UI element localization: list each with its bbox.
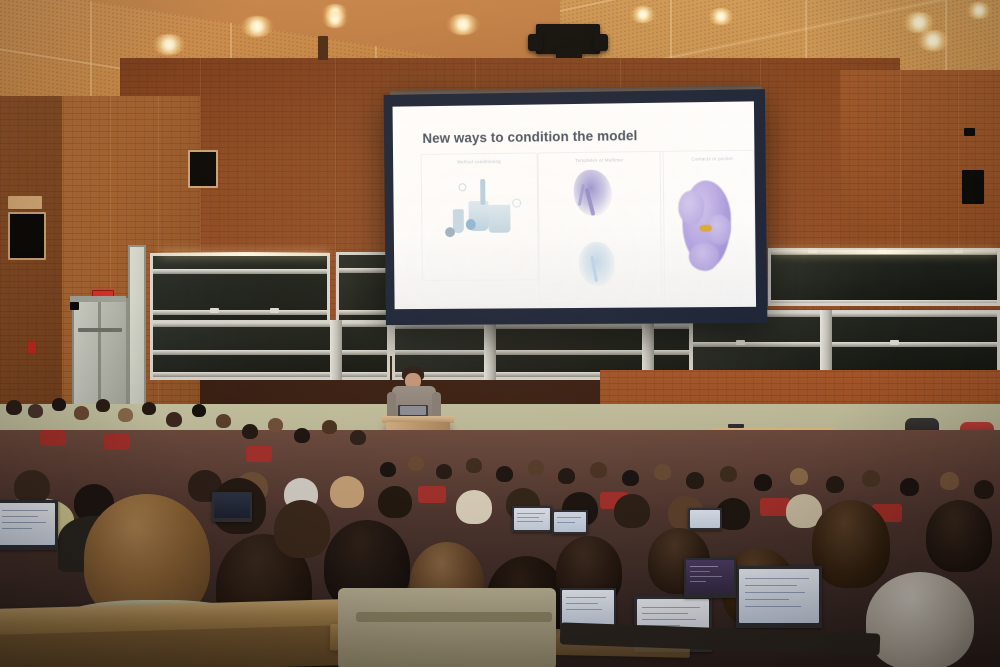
auditorium-seat <box>246 446 272 462</box>
audience-head <box>456 490 492 524</box>
audience-laptop[interactable] <box>736 566 822 628</box>
schematic-beaker <box>488 205 510 233</box>
audience-head <box>686 472 704 489</box>
audience-head-foreground <box>274 500 330 558</box>
audience-head <box>330 476 364 508</box>
ceiling-downlight <box>916 30 950 51</box>
chalkboard-left-lower <box>150 320 390 380</box>
audience-laptop[interactable] <box>688 508 722 530</box>
ceiling-downlight <box>708 8 734 25</box>
wall-speaker-box-upper <box>188 150 218 188</box>
wall-bracket-center <box>318 36 328 60</box>
audience-laptop[interactable] <box>0 500 58 550</box>
ceiling-downlight <box>240 16 274 37</box>
audience-head <box>192 404 206 417</box>
audience-laptop[interactable] <box>512 506 552 532</box>
auditorium-seat <box>104 434 130 450</box>
audience-head <box>496 466 513 482</box>
auditorium-seat <box>40 430 66 446</box>
audience-head <box>216 414 231 428</box>
projection-screen: New ways to condition the model Method c… <box>384 89 768 325</box>
audience-head-foreground <box>866 572 974 667</box>
audience-head <box>862 470 880 487</box>
laptop-screen <box>690 510 720 528</box>
chalkboard-light <box>772 250 996 254</box>
audience-head <box>974 480 994 499</box>
table-marker[interactable] <box>728 424 744 428</box>
laptop-screen <box>554 512 586 532</box>
protein-surface-lobe <box>689 243 720 271</box>
wall-speaker-box <box>8 212 46 260</box>
audience-head <box>294 428 310 443</box>
audience-head <box>322 420 337 434</box>
audience-head <box>242 424 258 439</box>
wall-bracket-right <box>964 128 975 136</box>
ceiling-speaker-side-left <box>528 34 542 51</box>
ceiling-downlight <box>152 34 186 55</box>
slide-title: New ways to condition the model <box>422 128 637 146</box>
audience-head <box>350 430 366 445</box>
audience-head <box>528 460 544 475</box>
audience-head <box>940 472 959 490</box>
chalkboard-right-upper <box>768 248 1000 306</box>
laptop-screen <box>514 508 550 530</box>
wall-speaker-box-right <box>962 170 984 204</box>
audience-head <box>6 400 22 415</box>
chalkboard-divider-post <box>330 320 342 380</box>
schematic-circle <box>445 227 455 237</box>
ceiling-downlight <box>966 2 992 19</box>
audience-laptop[interactable] <box>684 558 736 598</box>
bag-strap <box>356 612 552 622</box>
podium-laptop-screen <box>400 406 426 415</box>
left-wall-shadowed <box>0 96 62 426</box>
audience-head <box>118 408 133 422</box>
audience-head <box>436 464 452 479</box>
audience-head <box>790 468 808 485</box>
audience-head <box>408 456 424 471</box>
audience-head <box>380 462 396 477</box>
lecture-hall-photo: New ways to condition the model Method c… <box>0 0 1000 667</box>
laptop-screen <box>0 503 55 545</box>
audience-head <box>622 470 639 486</box>
audience-head <box>74 406 89 420</box>
audience-head <box>28 404 43 418</box>
protein-surface-lobe <box>678 191 705 225</box>
audience-head <box>558 468 575 484</box>
slide-surface: New ways to condition the model Method c… <box>393 101 757 309</box>
audience-head <box>142 402 156 415</box>
audience-head <box>590 462 607 478</box>
audience-head <box>378 486 412 518</box>
schematic-node <box>458 183 466 191</box>
schematic-drop <box>466 219 476 230</box>
fire-alarm-pull-station <box>28 342 36 353</box>
door-push-bar[interactable] <box>78 328 122 332</box>
audience-head <box>14 470 50 504</box>
bag-on-bench <box>338 588 556 667</box>
audience-laptop[interactable] <box>552 510 588 534</box>
ligand-pocket <box>700 225 712 232</box>
audience-head <box>466 458 482 473</box>
audience-head <box>826 476 844 493</box>
audience-head <box>654 464 671 480</box>
wall-speaker-top-left <box>8 196 42 209</box>
schematic-pipette <box>480 179 485 205</box>
laptop-screen-dark <box>686 560 734 594</box>
auditorium-seat <box>418 486 446 503</box>
audience-laptop[interactable] <box>212 492 252 522</box>
schematic-node <box>512 199 521 208</box>
ceiling-speaker-side-right <box>594 34 608 51</box>
audience-head-foreground <box>926 500 992 572</box>
ceiling-downlight <box>322 11 348 28</box>
audience-head <box>268 418 283 432</box>
audience-head <box>614 494 650 528</box>
audience-head <box>166 412 182 427</box>
laptop-screen-dark <box>214 494 250 518</box>
audience-head <box>900 478 919 496</box>
audience-head <box>720 466 737 482</box>
chalkboard-divider-post <box>484 322 496 380</box>
audience-head-foreground <box>812 500 890 588</box>
ceiling-downlight <box>446 14 480 35</box>
audience-head <box>754 474 772 491</box>
audience-head <box>96 399 110 412</box>
chalkboard-light <box>160 252 330 256</box>
audience-head <box>52 398 66 411</box>
door-sensor <box>70 302 79 310</box>
ceiling-downlight <box>630 6 656 23</box>
laptop-screen <box>739 569 819 623</box>
